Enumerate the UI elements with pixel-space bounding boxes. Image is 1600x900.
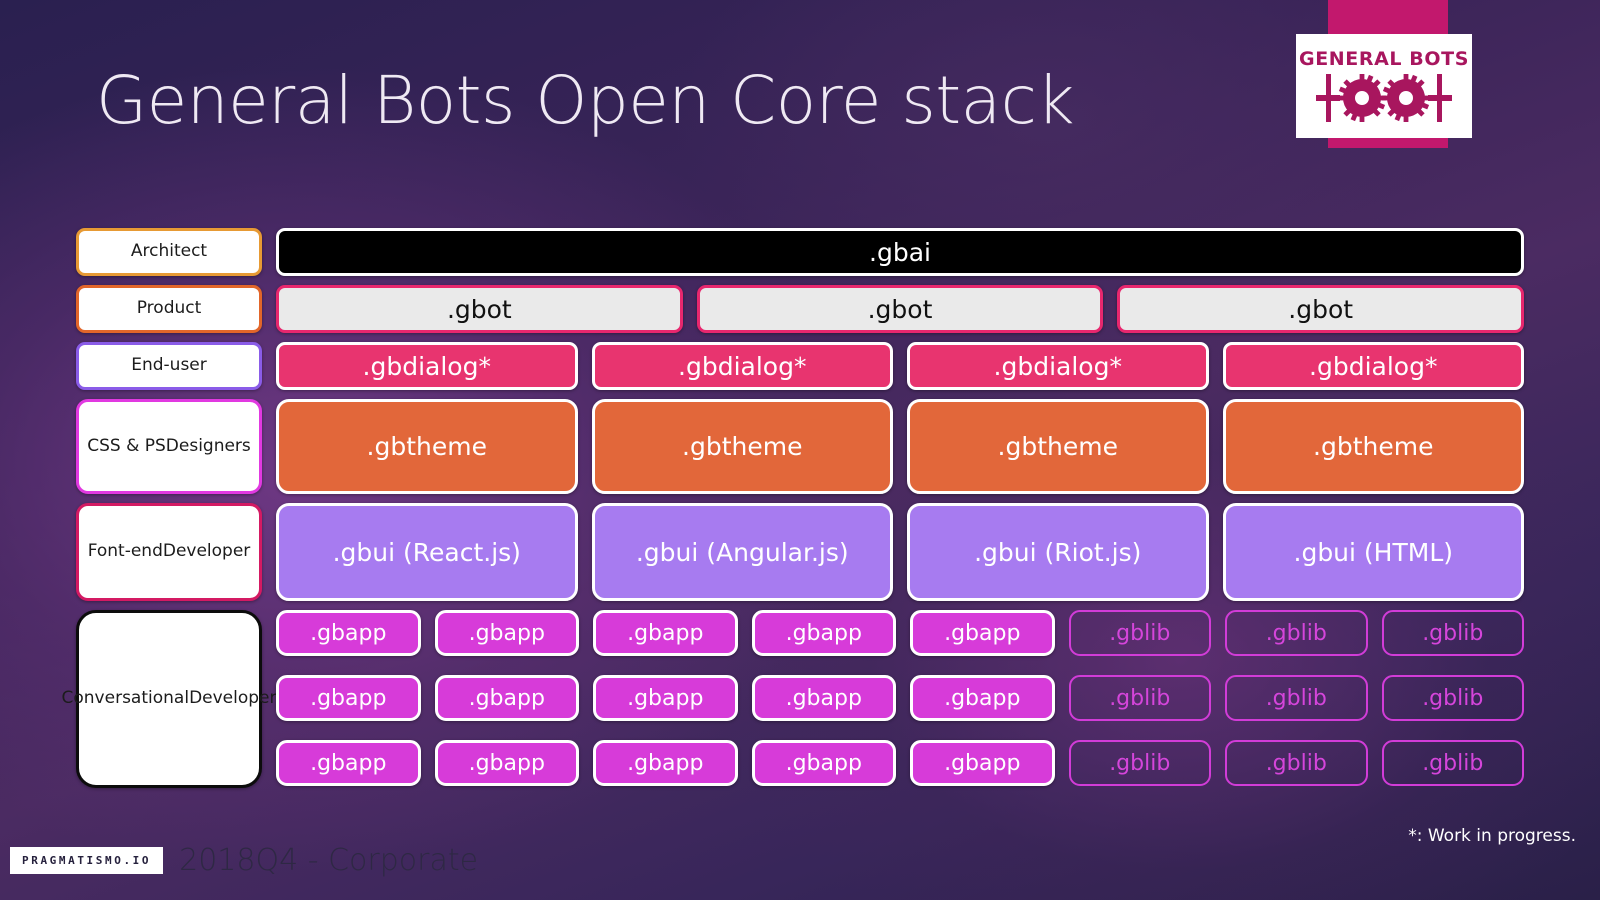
stack-diagram: Architect .gbai Product .gbot .gbot .gbo… xyxy=(76,228,1524,788)
role-cell-product: Product xyxy=(76,285,262,333)
role-label-frontend-line1: Font-end xyxy=(88,541,163,562)
logo-wordmark: GENERAL BOTS xyxy=(1299,48,1469,70)
role-label-designers: CSS & PS Designers xyxy=(76,399,262,494)
pill-gblib[interactable]: .gblib xyxy=(1382,675,1525,721)
slide-canvas: General Bots Open Core stack GENERAL BOT… xyxy=(0,0,1600,900)
role-cell-designers: CSS & PS Designers xyxy=(76,399,262,494)
role-label-designers-line2: Designers xyxy=(166,436,251,457)
pill-gblib[interactable]: .gblib xyxy=(1069,740,1212,786)
two-gears-icon xyxy=(1314,72,1454,124)
stack-box-gbui-html[interactable]: .gbui (HTML) xyxy=(1223,503,1525,601)
role-label-end-user: End-user xyxy=(76,342,262,390)
stack-box-gbdialog-1[interactable]: .gbdialog* xyxy=(276,342,578,390)
stack-box-gbdialog-4[interactable]: .gbdialog* xyxy=(1223,342,1525,390)
role-label-product: Product xyxy=(76,285,262,333)
pill-gbapp[interactable]: .gbapp xyxy=(435,740,580,786)
stack-row-gbdialog: End-user .gbdialog* .gbdialog* .gbdialog… xyxy=(76,342,1524,390)
stack-box-gbtheme-4[interactable]: .gbtheme xyxy=(1223,399,1525,494)
row-items-gbdialog: .gbdialog* .gbdialog* .gbdialog* .gbdial… xyxy=(276,342,1524,390)
stack-box-gbtheme-1[interactable]: .gbtheme xyxy=(276,399,578,494)
role-label-convdev-line1: Conversational xyxy=(62,688,190,709)
pill-gbapp[interactable]: .gbapp xyxy=(435,675,580,721)
slide-footer: PRAGMATISMO.IO 2018Q4 - Corporate xyxy=(10,843,478,878)
role-label-designers-line1: CSS & PS xyxy=(87,436,166,457)
deck-label: 2018Q4 - Corporate xyxy=(179,843,478,878)
role-label-conversational-developer: Conversational Developer xyxy=(76,610,262,788)
page-title: General Bots Open Core stack xyxy=(96,62,1074,139)
stack-row-gbai: Architect .gbai xyxy=(76,228,1524,276)
logo-card: GENERAL BOTS xyxy=(1296,34,1472,138)
role-label-frontend-line2: Developer xyxy=(163,541,250,562)
role-cell-end-user: End-user xyxy=(76,342,262,390)
role-label-architect: Architect xyxy=(76,228,262,276)
pill-gbapp[interactable]: .gbapp xyxy=(276,740,421,786)
pill-gbapp[interactable]: .gbapp xyxy=(276,675,421,721)
footnote-work-in-progress: *: Work in progress. xyxy=(1408,826,1576,846)
pill-row: .gbapp .gbapp .gbapp .gbapp .gbapp .gbli… xyxy=(276,675,1524,721)
row-items-gbtheme: .gbtheme .gbtheme .gbtheme .gbtheme xyxy=(276,399,1524,494)
stack-box-gbdialog-3[interactable]: .gbdialog* xyxy=(907,342,1209,390)
role-label-frontend: Font-end Developer xyxy=(76,503,262,601)
stack-row-gbui: Font-end Developer .gbui (React.js) .gbu… xyxy=(76,503,1524,601)
stack-box-gbui-riot[interactable]: .gbui (Riot.js) xyxy=(907,503,1209,601)
pill-gbapp[interactable]: .gbapp xyxy=(752,740,897,786)
stack-box-gbtheme-2[interactable]: .gbtheme xyxy=(592,399,894,494)
pill-gblib[interactable]: .gblib xyxy=(1069,610,1212,656)
stack-box-gbdialog-2[interactable]: .gbdialog* xyxy=(592,342,894,390)
general-bots-logo: GENERAL BOTS xyxy=(1328,0,1448,148)
stack-box-gbui-angular[interactable]: .gbui (Angular.js) xyxy=(592,503,894,601)
stack-box-gbot-2[interactable]: .gbot xyxy=(697,285,1104,333)
pragmatismo-logo: PRAGMATISMO.IO xyxy=(10,847,163,874)
row-items-gbai: .gbai xyxy=(276,228,1524,276)
pill-gbapp[interactable]: .gbapp xyxy=(593,610,738,656)
stack-box-gbtheme-3[interactable]: .gbtheme xyxy=(907,399,1209,494)
stack-row-gbtheme: CSS & PS Designers .gbtheme .gbtheme .gb… xyxy=(76,399,1524,494)
pill-gbapp[interactable]: .gbapp xyxy=(910,740,1055,786)
pill-gblib[interactable]: .gblib xyxy=(1069,675,1212,721)
role-cell-architect: Architect xyxy=(76,228,262,276)
pill-gbapp[interactable]: .gbapp xyxy=(593,740,738,786)
pill-gblib[interactable]: .gblib xyxy=(1225,740,1368,786)
pill-row: .gbapp .gbapp .gbapp .gbapp .gbapp .gbli… xyxy=(276,740,1524,786)
gbapp-gblib-grid: .gbapp .gbapp .gbapp .gbapp .gbapp .gbli… xyxy=(276,610,1524,788)
pill-gbapp[interactable]: .gbapp xyxy=(276,610,421,656)
role-label-convdev-line2: Developer xyxy=(189,688,276,709)
stack-box-gbai[interactable]: .gbai xyxy=(276,228,1524,276)
pill-gbapp[interactable]: .gbapp xyxy=(910,675,1055,721)
pill-gblib[interactable]: .gblib xyxy=(1225,675,1368,721)
row-items-gbui: .gbui (React.js) .gbui (Angular.js) .gbu… xyxy=(276,503,1524,601)
pill-gbapp[interactable]: .gbapp xyxy=(752,610,897,656)
pill-gbapp[interactable]: .gbapp xyxy=(435,610,580,656)
pill-gbapp[interactable]: .gbapp xyxy=(593,675,738,721)
role-cell-conversational-developer: Conversational Developer xyxy=(76,610,262,788)
role-cell-frontend: Font-end Developer xyxy=(76,503,262,601)
stack-box-gbui-react[interactable]: .gbui (React.js) xyxy=(276,503,578,601)
row-items-gbot: .gbot .gbot .gbot xyxy=(276,285,1524,333)
stack-box-gbot-1[interactable]: .gbot xyxy=(276,285,683,333)
pill-row: .gbapp .gbapp .gbapp .gbapp .gbapp .gbli… xyxy=(276,610,1524,656)
pragmatismo-logo-text: PRAGMATISMO.IO xyxy=(22,854,151,867)
pill-gblib[interactable]: .gblib xyxy=(1225,610,1368,656)
stack-row-gbapp-gblib: Conversational Developer .gbapp .gbapp .… xyxy=(76,610,1524,788)
pill-gbapp[interactable]: .gbapp xyxy=(752,675,897,721)
pill-gbapp[interactable]: .gbapp xyxy=(910,610,1055,656)
pill-gblib[interactable]: .gblib xyxy=(1382,610,1525,656)
stack-row-gbot: Product .gbot .gbot .gbot xyxy=(76,285,1524,333)
stack-box-gbot-3[interactable]: .gbot xyxy=(1117,285,1524,333)
pill-gblib[interactable]: .gblib xyxy=(1382,740,1525,786)
